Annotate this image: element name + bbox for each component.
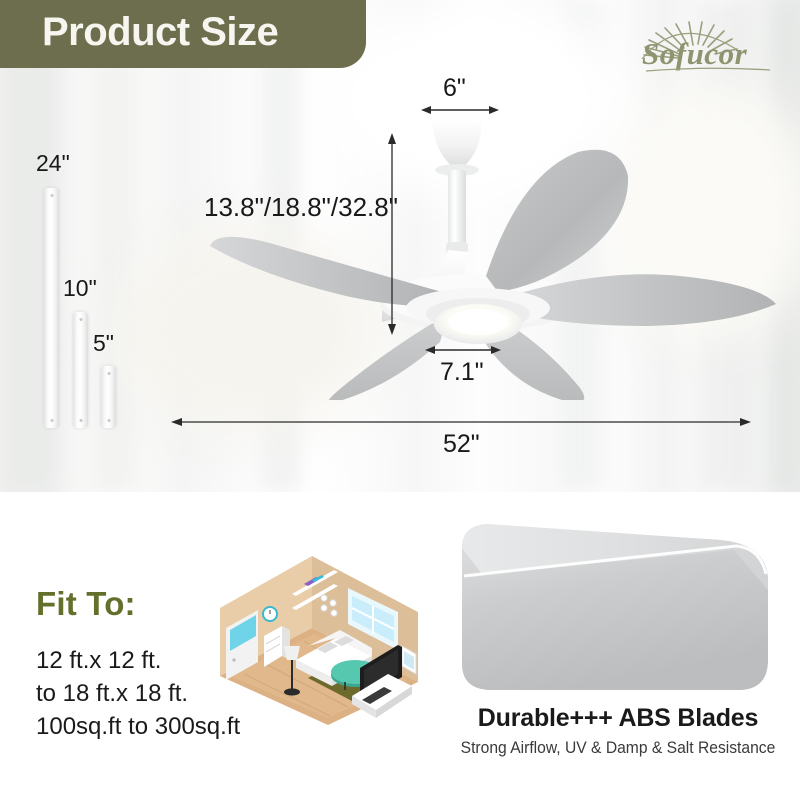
blade-span-arrow — [170, 413, 752, 431]
downrod-10-label: 10" — [63, 275, 97, 302]
isometric-living-room-illustration — [212, 550, 428, 725]
blade-span-label: 52" — [443, 430, 480, 459]
product-size-banner: Product Size — [0, 0, 366, 68]
downrod-hole-icon — [107, 419, 110, 422]
downrod-24 — [44, 188, 59, 428]
top-photo-section: 24" 10" 5" 6" 13.8"/18.8"/32.8" 7.1" — [0, 0, 800, 492]
downrod-24-label: 24" — [36, 150, 70, 177]
fit-to-line: 100sq.ft to 300sq.ft — [36, 713, 240, 741]
fit-to-line: 12 ft.x 12 ft. — [36, 647, 161, 675]
downrod-hole-icon — [50, 194, 53, 197]
fan-downrod — [446, 170, 468, 254]
downrod-hole-icon — [79, 318, 82, 321]
brand-logo: Sofucor — [620, 14, 780, 76]
downrod-10 — [73, 312, 88, 428]
drop-height-arrow — [382, 132, 402, 336]
fan-blade — [486, 150, 628, 292]
blade-feature-subtitle: Strong Airflow, UV & Damp & Salt Resista… — [452, 738, 783, 758]
blade-feature-title: Durable+++ ABS Blades — [448, 704, 788, 733]
body-width-label: 7.1" — [440, 358, 484, 387]
abs-blade-closeup — [448, 512, 786, 702]
downrod-5 — [101, 366, 116, 428]
fan-blade — [510, 274, 776, 326]
fit-to-line: to 18 ft.x 18 ft. — [36, 680, 188, 708]
canopy-width-arrow — [420, 100, 500, 120]
downrod-hole-icon — [50, 419, 53, 422]
product-size-infographic: 24" 10" 5" 6" 13.8"/18.8"/32.8" 7.1" — [0, 0, 800, 800]
fan-blade — [210, 237, 444, 306]
canopy-width-label: 6" — [443, 74, 466, 103]
fan-canopy — [432, 119, 482, 176]
page-title: Product Size — [42, 10, 278, 55]
bottom-features-section: Fit To: 12 ft.x 12 ft. to 18 ft.x 18 ft.… — [0, 492, 800, 800]
drop-height-label: 13.8"/18.8"/32.8" — [204, 192, 398, 223]
downrod-hole-icon — [79, 419, 82, 422]
body-width-arrow — [424, 341, 502, 359]
downrod-hole-icon — [107, 372, 110, 375]
logo-underline-icon — [644, 66, 772, 74]
fit-to-title: Fit To: — [36, 585, 136, 623]
downrod-5-label: 5" — [93, 330, 114, 357]
